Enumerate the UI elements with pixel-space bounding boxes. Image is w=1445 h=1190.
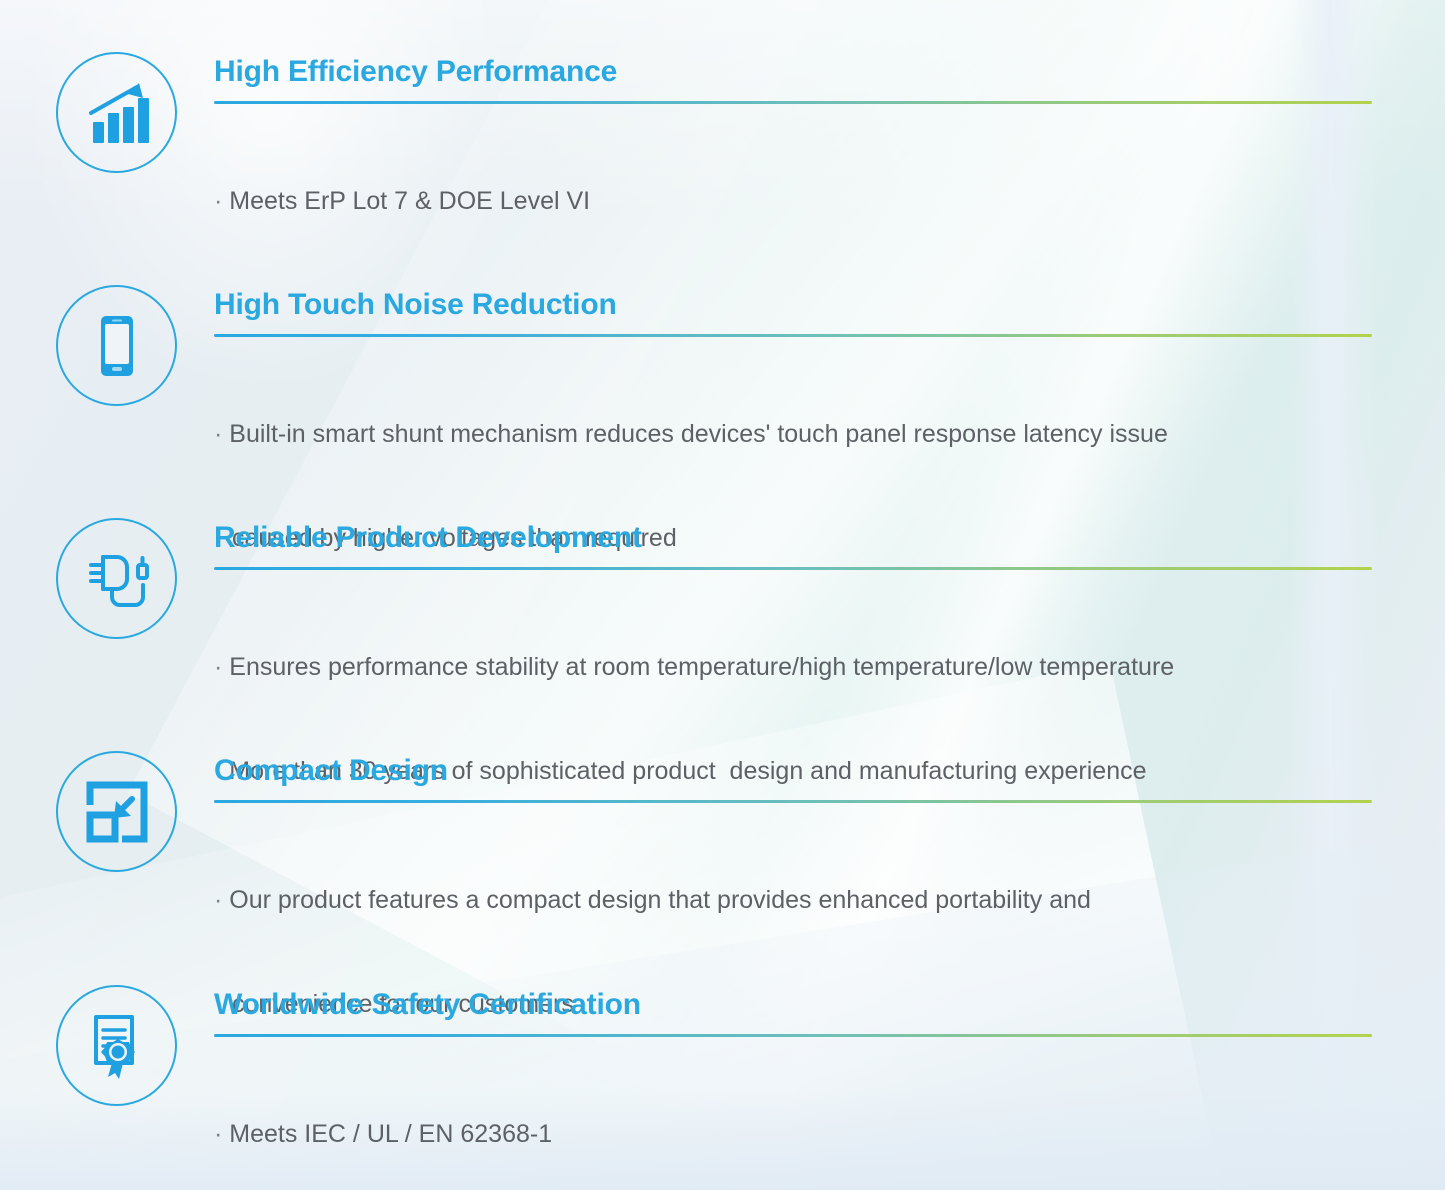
bullet-text: Our product features a compact design th… <box>229 886 1091 914</box>
bullet-text: Ensures performance stability at room te… <box>229 653 1174 681</box>
bullet-line: · Built-in smart shunt mechanism reduces… <box>214 417 1372 452</box>
certificate-award-icon <box>56 985 177 1106</box>
bullet-text: Meets IEC / UL / EN 62368-1 <box>229 1120 552 1148</box>
feature-divider <box>214 101 1372 104</box>
power-adapter-icon <box>56 518 177 639</box>
bullet-text: Built-in smart shunt mechanism reduces d… <box>229 420 1168 448</box>
bullet-marker: · <box>214 1120 222 1148</box>
bullet-line: · Ensures performance stability at room … <box>214 650 1372 685</box>
feature-highlights-page: High Efficiency Performance · Meets ErP … <box>0 0 1445 1190</box>
feature-title: High Touch Noise Reduction <box>214 288 1372 321</box>
bullet-line: · Meets ErP Lot 7 & DOE Level VI <box>214 184 1372 219</box>
feature-title: Compact Design <box>214 754 1372 787</box>
feature-body: Worldwide Safety Certification · Meets I… <box>214 985 1372 1190</box>
feature-title: Worldwide Safety Certification <box>214 988 1372 1021</box>
feature-divider <box>214 334 1372 337</box>
feature-item-worldwide-safety-certification: Worldwide Safety Certification · Meets I… <box>56 985 1376 1190</box>
compact-resize-icon <box>56 751 177 872</box>
bullet-line: · Our product features a compact design … <box>214 883 1372 918</box>
bullet-text: Meets ErP Lot 7 & DOE Level VI <box>229 187 590 215</box>
feature-divider <box>214 567 1372 570</box>
bullet-marker: · <box>214 420 222 448</box>
feature-body: High Efficiency Performance · Meets ErP … <box>214 52 1372 288</box>
bullet-marker: · <box>214 187 222 215</box>
feature-divider <box>214 1034 1372 1037</box>
smartphone-icon <box>56 285 177 406</box>
feature-title: Reliable Product Development <box>214 521 1372 554</box>
bullet-marker: · <box>214 653 222 681</box>
bullet-marker: · <box>214 886 222 914</box>
bar-chart-growth-icon <box>56 52 177 173</box>
feature-bullets: · Meets ErP Lot 7 & DOE Level VI <box>214 115 1372 288</box>
feature-divider <box>214 800 1372 803</box>
feature-item-high-efficiency-performance: High Efficiency Performance · Meets ErP … <box>56 52 1376 288</box>
feature-title: High Efficiency Performance <box>214 55 1372 88</box>
feature-bullets: · Meets IEC / UL / EN 62368-1 <box>214 1048 1372 1190</box>
bullet-line: · Meets IEC / UL / EN 62368-1 <box>214 1117 1372 1152</box>
